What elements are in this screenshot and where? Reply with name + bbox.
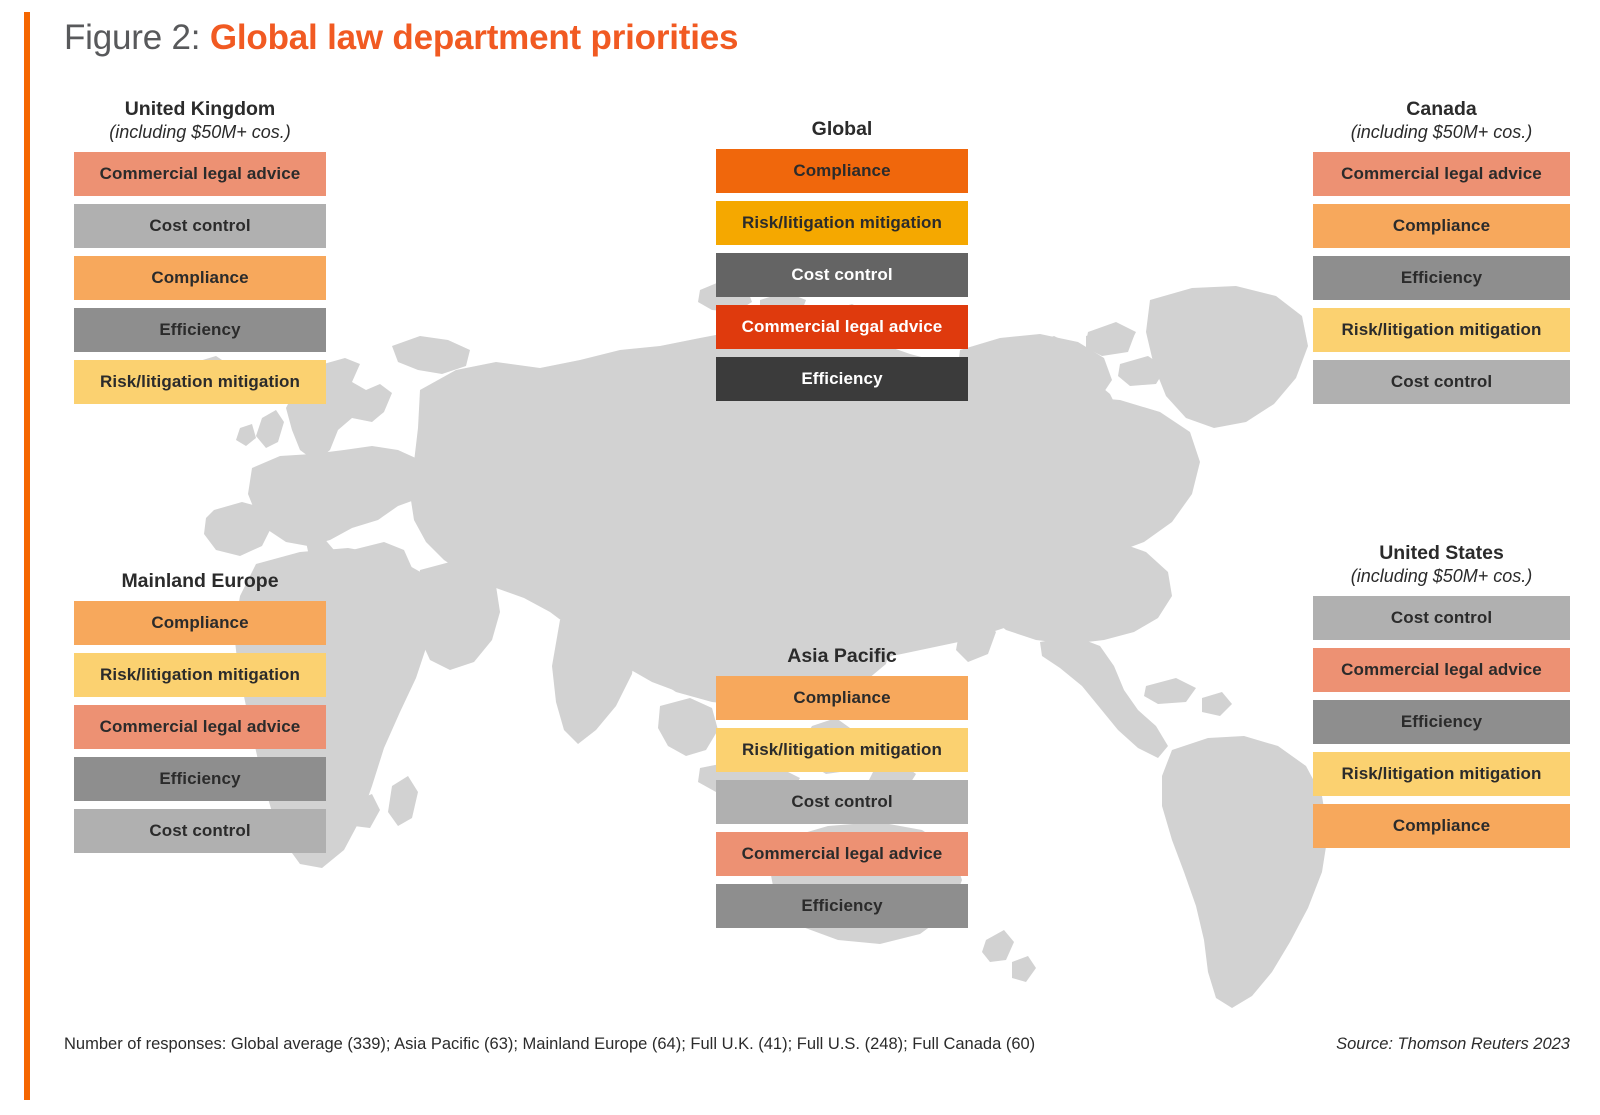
priority-bar[interactable]: Cost control <box>716 253 968 297</box>
priority-bar[interactable]: Compliance <box>1313 804 1570 848</box>
region-block-canada: Canada (including $50M+ cos.) Commercial… <box>1313 98 1570 404</box>
figure-number: Figure 2: <box>64 18 200 57</box>
priority-bars-united-kingdom: Commercial legal advice Cost control Com… <box>74 152 326 404</box>
region-title-canada: Canada <box>1313 98 1570 121</box>
priority-bar[interactable]: Cost control <box>1313 596 1570 640</box>
priority-bar[interactable]: Cost control <box>74 809 326 853</box>
figure-title-text: Global law department priorities <box>210 18 738 57</box>
priority-bar[interactable]: Risk/litigation mitigation <box>716 201 968 245</box>
region-title-united-kingdom: United Kingdom <box>74 98 326 121</box>
priority-bar[interactable]: Commercial legal advice <box>716 832 968 876</box>
priority-bars-asia-pacific: Compliance Risk/litigation mitigation Co… <box>716 676 968 928</box>
priority-bar[interactable]: Commercial legal advice <box>716 305 968 349</box>
priority-bar[interactable]: Commercial legal advice <box>1313 152 1570 196</box>
priority-bar[interactable]: Risk/litigation mitigation <box>1313 308 1570 352</box>
figure-title: Figure 2: Global law department prioriti… <box>64 18 738 58</box>
priority-bar[interactable]: Efficiency <box>74 757 326 801</box>
priority-bar[interactable]: Cost control <box>74 204 326 248</box>
left-accent-rule <box>24 12 30 1100</box>
priority-bar[interactable]: Compliance <box>716 676 968 720</box>
source-note: Source: Thomson Reuters 2023 <box>1336 1035 1570 1054</box>
priority-bar[interactable]: Cost control <box>716 780 968 824</box>
priority-bar[interactable]: Commercial legal advice <box>1313 648 1570 692</box>
priority-bar[interactable]: Commercial legal advice <box>74 152 326 196</box>
region-title-mainland-europe: Mainland Europe <box>74 570 326 593</box>
region-title-global: Global <box>716 118 968 141</box>
priority-bar[interactable]: Risk/litigation mitigation <box>74 360 326 404</box>
priority-bars-mainland-europe: Compliance Risk/litigation mitigation Co… <box>74 601 326 853</box>
priority-bar[interactable]: Compliance <box>74 601 326 645</box>
priority-bar[interactable]: Efficiency <box>1313 256 1570 300</box>
region-subtitle-canada: (including $50M+ cos.) <box>1313 122 1570 144</box>
priority-bar[interactable]: Risk/litigation mitigation <box>74 653 326 697</box>
region-title-united-states: United States <box>1313 542 1570 565</box>
region-subtitle-united-states: (including $50M+ cos.) <box>1313 566 1570 588</box>
priority-bars-united-states: Cost control Commercial legal advice Eff… <box>1313 596 1570 848</box>
region-block-global: Global Compliance Risk/litigation mitiga… <box>716 118 968 401</box>
priority-bar[interactable]: Compliance <box>74 256 326 300</box>
priority-bars-global: Compliance Risk/litigation mitigation Co… <box>716 149 968 401</box>
region-block-mainland-europe: Mainland Europe Compliance Risk/litigati… <box>74 570 326 853</box>
region-block-united-states: United States (including $50M+ cos.) Cos… <box>1313 542 1570 848</box>
region-block-united-kingdom: United Kingdom (including $50M+ cos.) Co… <box>74 98 326 404</box>
region-title-asia-pacific: Asia Pacific <box>716 645 968 668</box>
priority-bar[interactable]: Commercial legal advice <box>74 705 326 749</box>
priority-bar[interactable]: Cost control <box>1313 360 1570 404</box>
priority-bar[interactable]: Efficiency <box>716 884 968 928</box>
priority-bar[interactable]: Efficiency <box>716 357 968 401</box>
responses-note: Number of responses: Global average (339… <box>64 1035 1035 1054</box>
priority-bar[interactable]: Compliance <box>1313 204 1570 248</box>
region-block-asia-pacific: Asia Pacific Compliance Risk/litigation … <box>716 645 968 928</box>
priority-bar[interactable]: Efficiency <box>1313 700 1570 744</box>
priority-bar[interactable]: Risk/litigation mitigation <box>716 728 968 772</box>
priority-bar[interactable]: Efficiency <box>74 308 326 352</box>
priority-bars-canada: Commercial legal advice Compliance Effic… <box>1313 152 1570 404</box>
priority-bar[interactable]: Risk/litigation mitigation <box>1313 752 1570 796</box>
region-subtitle-united-kingdom: (including $50M+ cos.) <box>74 122 326 144</box>
priority-bar[interactable]: Compliance <box>716 149 968 193</box>
